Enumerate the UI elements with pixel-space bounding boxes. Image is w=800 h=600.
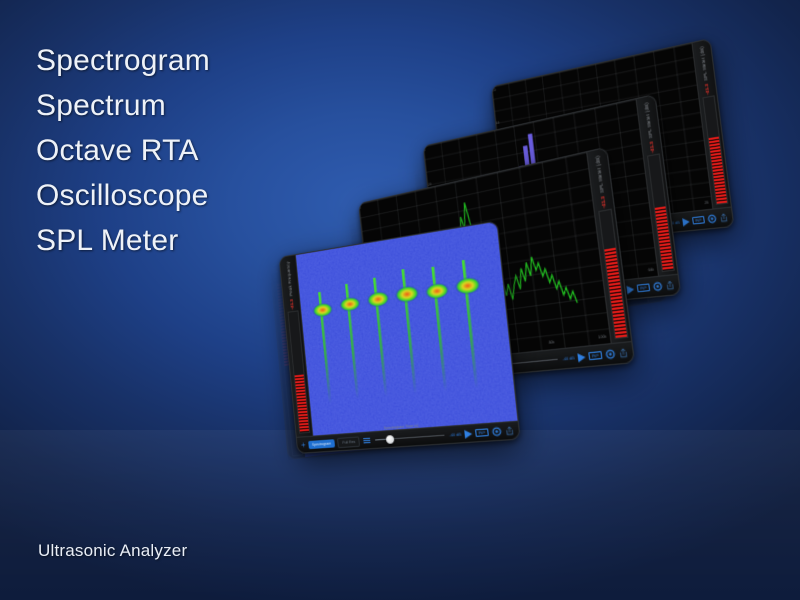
peak-frequency-label: Peak Frequency	[286, 261, 294, 296]
spectrogram-image	[296, 222, 518, 436]
device-toolbar[interactable]: + Spectrogram Full Res -40 dB PiP	[297, 421, 520, 453]
slider-knob[interactable]	[386, 434, 395, 443]
level-meter-fill	[654, 206, 673, 270]
gain-slider[interactable]	[375, 430, 444, 445]
pip-button[interactable]: PiP	[588, 351, 603, 360]
play-icon[interactable]	[577, 352, 586, 362]
spl-readout: -41.3	[289, 299, 295, 310]
spl-meter-label: SPL Meter (dB)	[699, 46, 708, 81]
share-icon[interactable]	[505, 425, 515, 436]
spl-readout: -41.3	[648, 141, 655, 153]
gear-icon[interactable]	[491, 426, 502, 437]
floor-glow	[0, 430, 800, 600]
list-icon[interactable]	[364, 438, 371, 444]
spl-readout: -41.3	[600, 196, 607, 209]
pip-button[interactable]: PiP	[636, 283, 650, 292]
gear-icon[interactable]	[652, 281, 663, 292]
play-icon[interactable]	[626, 285, 634, 294]
share-icon[interactable]	[665, 280, 675, 291]
pip-button[interactable]: PiP	[692, 216, 705, 225]
pip-button[interactable]: PiP	[475, 428, 489, 437]
play-icon[interactable]	[464, 429, 472, 438]
feature-item-spl-meter: SPL Meter	[36, 218, 210, 263]
level-meter	[702, 96, 728, 205]
tab-active[interactable]: Spectrogram	[308, 439, 335, 449]
brand-title: Ultrasonic Analyzer	[38, 541, 187, 561]
feature-list: Spectrogram Spectrum Octave RTA Oscillos…	[36, 38, 210, 263]
gain-value: -40 dB	[449, 432, 461, 437]
spl-readout: -41.3	[704, 83, 710, 95]
spectrogram-plot[interactable]	[296, 222, 518, 436]
share-icon[interactable]	[719, 212, 728, 222]
level-meter-fill	[708, 137, 727, 204]
gear-icon[interactable]	[707, 214, 717, 225]
promo-slide: 1.0 0.5 0 -0.5 -1.0 Time (ms) 0 5 10 15 …	[0, 0, 800, 600]
tab-secondary[interactable]: Full Res	[337, 436, 360, 448]
device-spectrogram[interactable]: Peak Frequency -41.3	[279, 220, 521, 454]
spl-meter-label: SPL Meter (dB)	[595, 155, 605, 193]
level-meter	[287, 311, 310, 434]
device-spectrogram-wrap: Peak Frequency -41.3	[279, 221, 519, 454]
peak-frequency-column[interactable]: Peak Frequency -41.3	[280, 255, 314, 437]
spl-meter-column[interactable]: SPL Meter (dB) -41.3	[691, 39, 730, 208]
spectrogram-axis-title: Spectrogram Time (s)	[296, 416, 517, 437]
play-icon[interactable]	[682, 217, 690, 226]
gear-icon[interactable]	[605, 349, 616, 360]
feature-item-spectrum: Spectrum	[36, 83, 210, 128]
spl-meter-label: SPL Meter (dB)	[644, 102, 654, 139]
feature-item-spectrogram: Spectrogram	[36, 38, 210, 83]
level-meter-fill	[294, 374, 309, 433]
share-icon[interactable]	[618, 347, 629, 358]
feature-item-octave-rta: Octave RTA	[36, 128, 210, 173]
gain-value: -40 dB	[562, 355, 574, 361]
feature-item-oscilloscope: Oscilloscope	[36, 173, 210, 218]
add-icon[interactable]: +	[301, 441, 306, 449]
